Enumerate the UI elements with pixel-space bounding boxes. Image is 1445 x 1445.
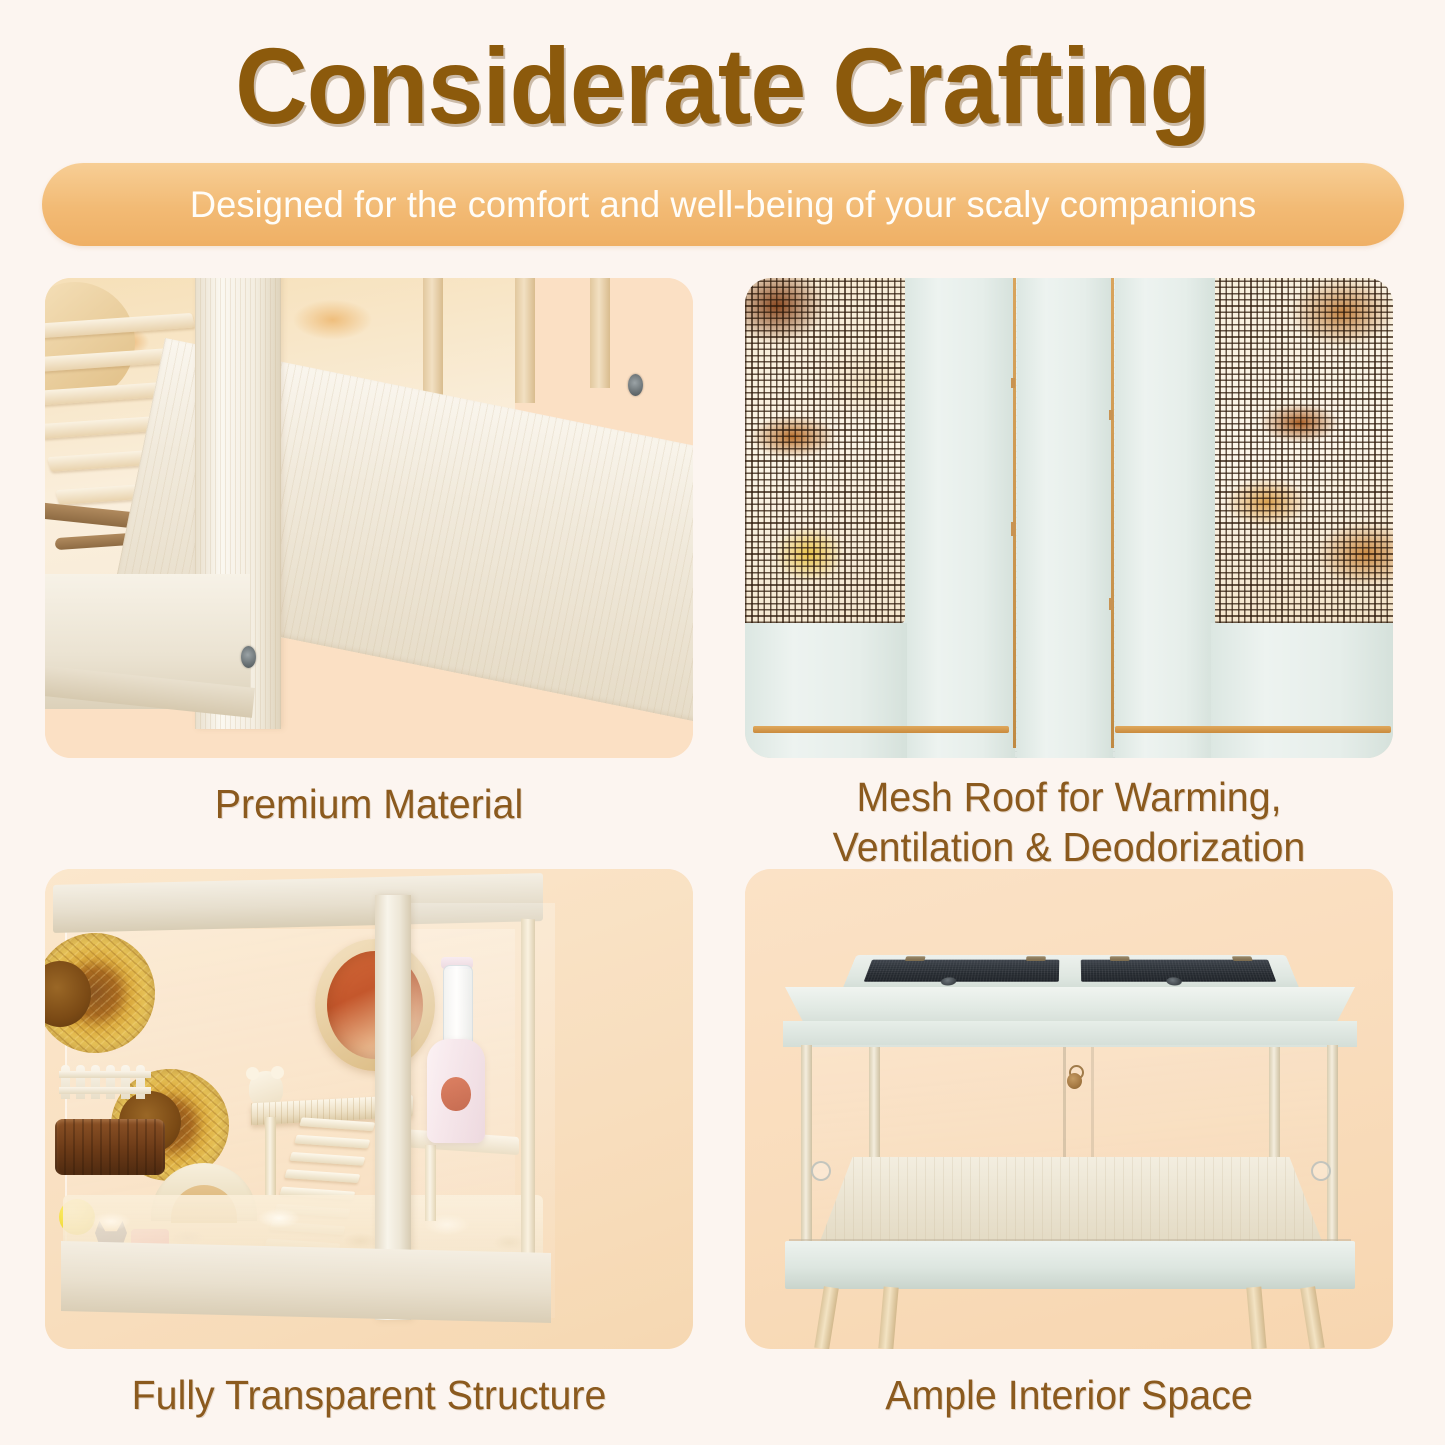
frame-edge-highlight-right bbox=[1115, 726, 1391, 733]
latch-body-icon bbox=[1067, 1073, 1082, 1089]
hinge-mark-4 bbox=[1109, 598, 1113, 610]
door-latch[interactable] bbox=[1067, 1065, 1083, 1089]
subtitle-banner: Designed for the comfort and well-being … bbox=[42, 163, 1404, 246]
feature-card-transparent-structure: Fully Transparent Structure bbox=[45, 869, 693, 1420]
hinge-icon-4 bbox=[1232, 956, 1253, 961]
hinge-icon-2 bbox=[1026, 956, 1046, 961]
mesh-panel-right bbox=[1213, 278, 1393, 623]
cage-corner-illustration bbox=[45, 278, 693, 758]
feature-card-premium-material: Premium Material bbox=[45, 278, 693, 829]
wooden-fence bbox=[59, 1053, 151, 1099]
subtitle-text: Designed for the comfort and well-being … bbox=[190, 184, 1256, 226]
side-frame-edge bbox=[521, 919, 535, 1280]
wooden-log-tunnel bbox=[55, 1119, 165, 1175]
feature-card-ample-interior-space: Ample Interior Space bbox=[745, 869, 1393, 1420]
support-post-2 bbox=[515, 278, 535, 403]
caption-mesh-roof: Mesh Roof for Warming, Ventilation & Deo… bbox=[758, 772, 1380, 872]
cage-floor-rail bbox=[61, 1241, 551, 1323]
hinge-mark-1 bbox=[1011, 378, 1015, 388]
mesh-lid-panel-left bbox=[864, 960, 1060, 982]
lid-knob-right[interactable] bbox=[1166, 977, 1183, 985]
lower-frame-right bbox=[1211, 623, 1393, 758]
support-post-3 bbox=[590, 278, 610, 388]
side-vent-hole-right bbox=[1311, 1161, 1331, 1181]
photo-premium-material bbox=[45, 278, 693, 758]
photo-transparent-structure bbox=[45, 869, 693, 1349]
hinge-mark-2 bbox=[1011, 522, 1015, 536]
hinge-icon-3 bbox=[1110, 956, 1130, 961]
caption-ample-interior-space: Ample Interior Space bbox=[758, 1370, 1380, 1420]
lid-knob-left[interactable] bbox=[940, 977, 957, 985]
corner-post-left bbox=[801, 1045, 812, 1247]
caption-transparent-structure: Fully Transparent Structure bbox=[58, 1370, 680, 1420]
top-frame-band-lower bbox=[783, 1021, 1357, 1047]
photo-mesh-roof bbox=[745, 278, 1393, 758]
side-vent-hole-left bbox=[811, 1161, 831, 1181]
lid-frame bbox=[841, 955, 1301, 992]
feature-card-mesh-roof: Mesh Roof for Warming, Ventilation & Deo… bbox=[745, 278, 1393, 872]
cage-leg-1 bbox=[814, 1286, 839, 1349]
caption-line-2: Ventilation & Deodorization bbox=[758, 822, 1380, 872]
screw-icon-2 bbox=[628, 374, 643, 396]
hinge-icon-1 bbox=[905, 956, 926, 961]
photo-ample-interior-space bbox=[745, 869, 1393, 1349]
infographic-page: Considerate Crafting Designed for the co… bbox=[0, 0, 1445, 1445]
lower-frame-left bbox=[745, 623, 907, 758]
interior-floor bbox=[817, 1157, 1325, 1249]
cage-illustration bbox=[53, 877, 531, 1307]
cage-leg-2 bbox=[878, 1286, 898, 1349]
corner-post-right bbox=[1327, 1045, 1338, 1247]
hinge-mark-3 bbox=[1109, 410, 1113, 420]
wood-plank-center bbox=[1017, 278, 1113, 758]
wood-plank-left bbox=[905, 278, 1015, 758]
page-title: Considerate Crafting bbox=[51, 26, 1395, 147]
frame-edge-highlight-left bbox=[753, 726, 1009, 733]
plank-seam-1 bbox=[1013, 278, 1016, 748]
mesh-panel-left bbox=[745, 278, 905, 623]
plank-seam-2 bbox=[1111, 278, 1114, 748]
wood-plank-right bbox=[1115, 278, 1215, 758]
screw-icon bbox=[241, 646, 256, 668]
caption-line-1: Mesh Roof for Warming, bbox=[758, 772, 1380, 822]
platform-leg-1 bbox=[265, 1117, 276, 1195]
caption-premium-material: Premium Material bbox=[58, 779, 680, 829]
base-front-rail bbox=[785, 1241, 1355, 1289]
cage-illustration bbox=[745, 869, 1393, 1349]
cage-leg-4 bbox=[1300, 1286, 1325, 1349]
cage-leg-3 bbox=[1246, 1286, 1266, 1349]
